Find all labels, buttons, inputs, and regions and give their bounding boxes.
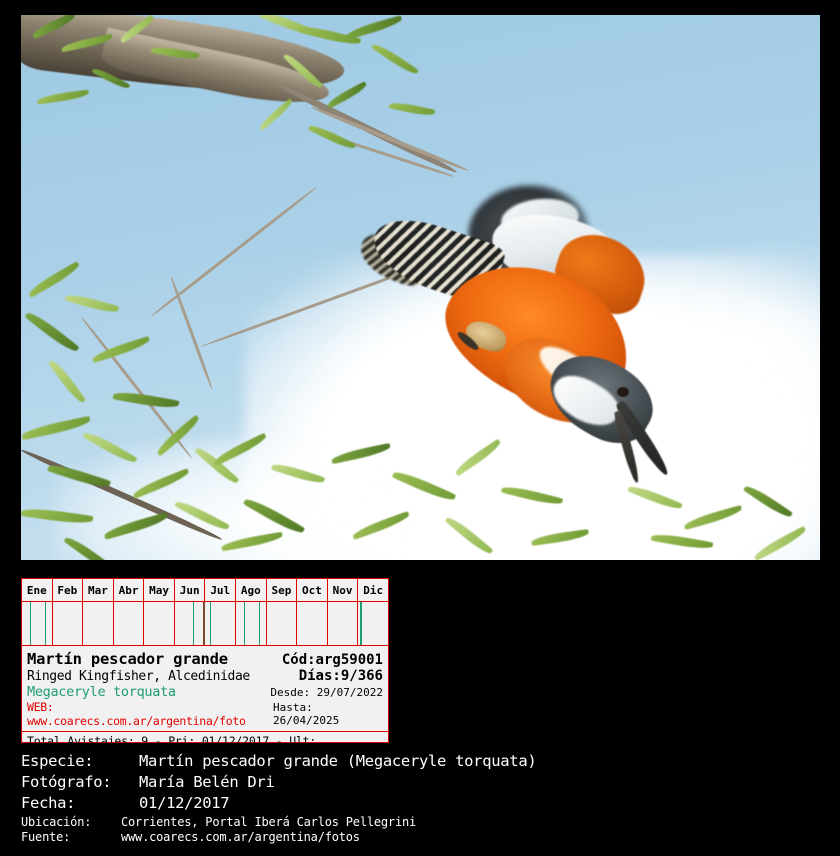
- calendar-month-feb: Feb: [53, 579, 84, 601]
- row-scientific-name: Megaceryle torquata Desde: 29/07/2022: [27, 684, 383, 700]
- calendar-cell-mar: [83, 602, 114, 645]
- calendar-cell-abr: [114, 602, 145, 645]
- calendar-cell-feb: [53, 602, 84, 645]
- calendar-tick-ene-0: [30, 602, 31, 645]
- caption-label-ubicacion: Ubicación:: [21, 815, 121, 829]
- date-from: Desde: 29/07/2022: [270, 686, 383, 699]
- calendar-cell-jun: [175, 602, 206, 645]
- caption-value-fecha: 01/12/2017: [139, 794, 229, 812]
- calendar-month-sep: Sep: [267, 579, 298, 601]
- foliage-bottom-right: [621, 485, 820, 560]
- caption-label-fuente: Fuente:: [21, 830, 121, 844]
- calendar-tick-ene-1: [45, 602, 46, 645]
- page-root: Ene Feb Mar Abr May Jun Jul Ago Sep Oct …: [0, 0, 840, 856]
- species-photo: [21, 15, 820, 560]
- species-info-panel: Ene Feb Mar Abr May Jun Jul Ago Sep Oct …: [21, 578, 389, 743]
- calendar-month-dic: Dic: [358, 579, 388, 601]
- bird-eye: [617, 387, 629, 397]
- caption-value-ubicacion: Corrientes, Portal Iberá Carlos Pellegri…: [121, 815, 416, 829]
- caption-label-especie: Especie:: [21, 752, 139, 770]
- calendar-cell-dic: [358, 602, 388, 645]
- caption-value-especie: Martín pescador grande (Megaceryle torqu…: [139, 752, 536, 770]
- species-english-name: Ringed Kingfisher, Alcedinidae: [27, 669, 250, 684]
- species-code: Cód:arg59001: [282, 652, 383, 668]
- calendar-tick-dic-7: [360, 602, 362, 645]
- calendar-month-ene: Ene: [22, 579, 53, 601]
- calendar-month-abr: Abr: [114, 579, 145, 601]
- calendar-cell-ago: [236, 602, 267, 645]
- caption-row-especie: Especie: Martín pescador grande (Megacer…: [21, 752, 821, 770]
- calendar-month-ago: Ago: [236, 579, 267, 601]
- species-days: Días:9/366: [299, 668, 383, 684]
- species-web-link[interactable]: WEB: www.coarecs.com.ar/argentina/foto: [27, 700, 273, 728]
- calendar-month-jun: Jun: [175, 579, 206, 601]
- row-web: WEB: www.coarecs.com.ar/argentina/foto H…: [27, 700, 383, 728]
- photo-caption: Especie: Martín pescador grande (Megacer…: [21, 752, 821, 845]
- calendar-tick-jun-2: [193, 602, 194, 645]
- species-common-name: Martín pescador grande: [27, 650, 228, 668]
- calendar-cell-nov: [328, 602, 359, 645]
- calendar-month-header: Ene Feb Mar Abr May Jun Jul Ago Sep Oct …: [22, 579, 388, 602]
- calendar-cell-oct: [297, 602, 328, 645]
- foliage-top-right: [249, 15, 439, 165]
- caption-label-fecha: Fecha:: [21, 794, 139, 812]
- calendar-cell-sep: [267, 602, 298, 645]
- calendar-month-mar: Mar: [83, 579, 114, 601]
- date-until: Hasta: 26/04/2025: [273, 701, 383, 727]
- calendar-cell-jul: [205, 602, 236, 645]
- calendar-tick-ago-5: [244, 602, 245, 645]
- monthly-sighting-calendar: Ene Feb Mar Abr May Jun Jul Ago Sep Oct …: [22, 579, 388, 647]
- calendar-month-nov: Nov: [328, 579, 359, 601]
- caption-value-fuente[interactable]: www.coarecs.com.ar/argentina/fotos: [121, 830, 360, 844]
- calendar-tick-jul-4: [210, 602, 211, 645]
- caption-row-fuente: Fuente: www.coarecs.com.ar/argentina/fot…: [21, 830, 821, 844]
- species-details: Martín pescador grande Cód:arg59001 Ring…: [22, 647, 388, 728]
- calendar-month-jul: Jul: [205, 579, 236, 601]
- row-english-name: Ringed Kingfisher, Alcedinidae Días:9/36…: [27, 668, 383, 684]
- calendar-tick-ago-6: [259, 602, 260, 645]
- caption-row-ubicacion: Ubicación: Corrientes, Portal Iberá Carl…: [21, 815, 821, 829]
- row-common-name: Martín pescador grande Cód:arg59001: [27, 650, 383, 668]
- calendar-cell-ene: [22, 602, 53, 645]
- calendar-cell-may: [144, 602, 175, 645]
- species-scientific-name: Megaceryle torquata: [27, 684, 176, 700]
- caption-row-fecha: Fecha: 01/12/2017: [21, 794, 821, 812]
- caption-value-fotografo: María Belén Dri: [139, 773, 274, 791]
- caption-row-fotografo: Fotógrafo: María Belén Dri: [21, 773, 821, 791]
- ringed-kingfisher-bird: [351, 175, 671, 495]
- calendar-month-oct: Oct: [297, 579, 328, 601]
- calendar-month-may: May: [144, 579, 175, 601]
- calendar-tick-track: [22, 602, 388, 646]
- caption-label-fotografo: Fotógrafo:: [21, 773, 139, 791]
